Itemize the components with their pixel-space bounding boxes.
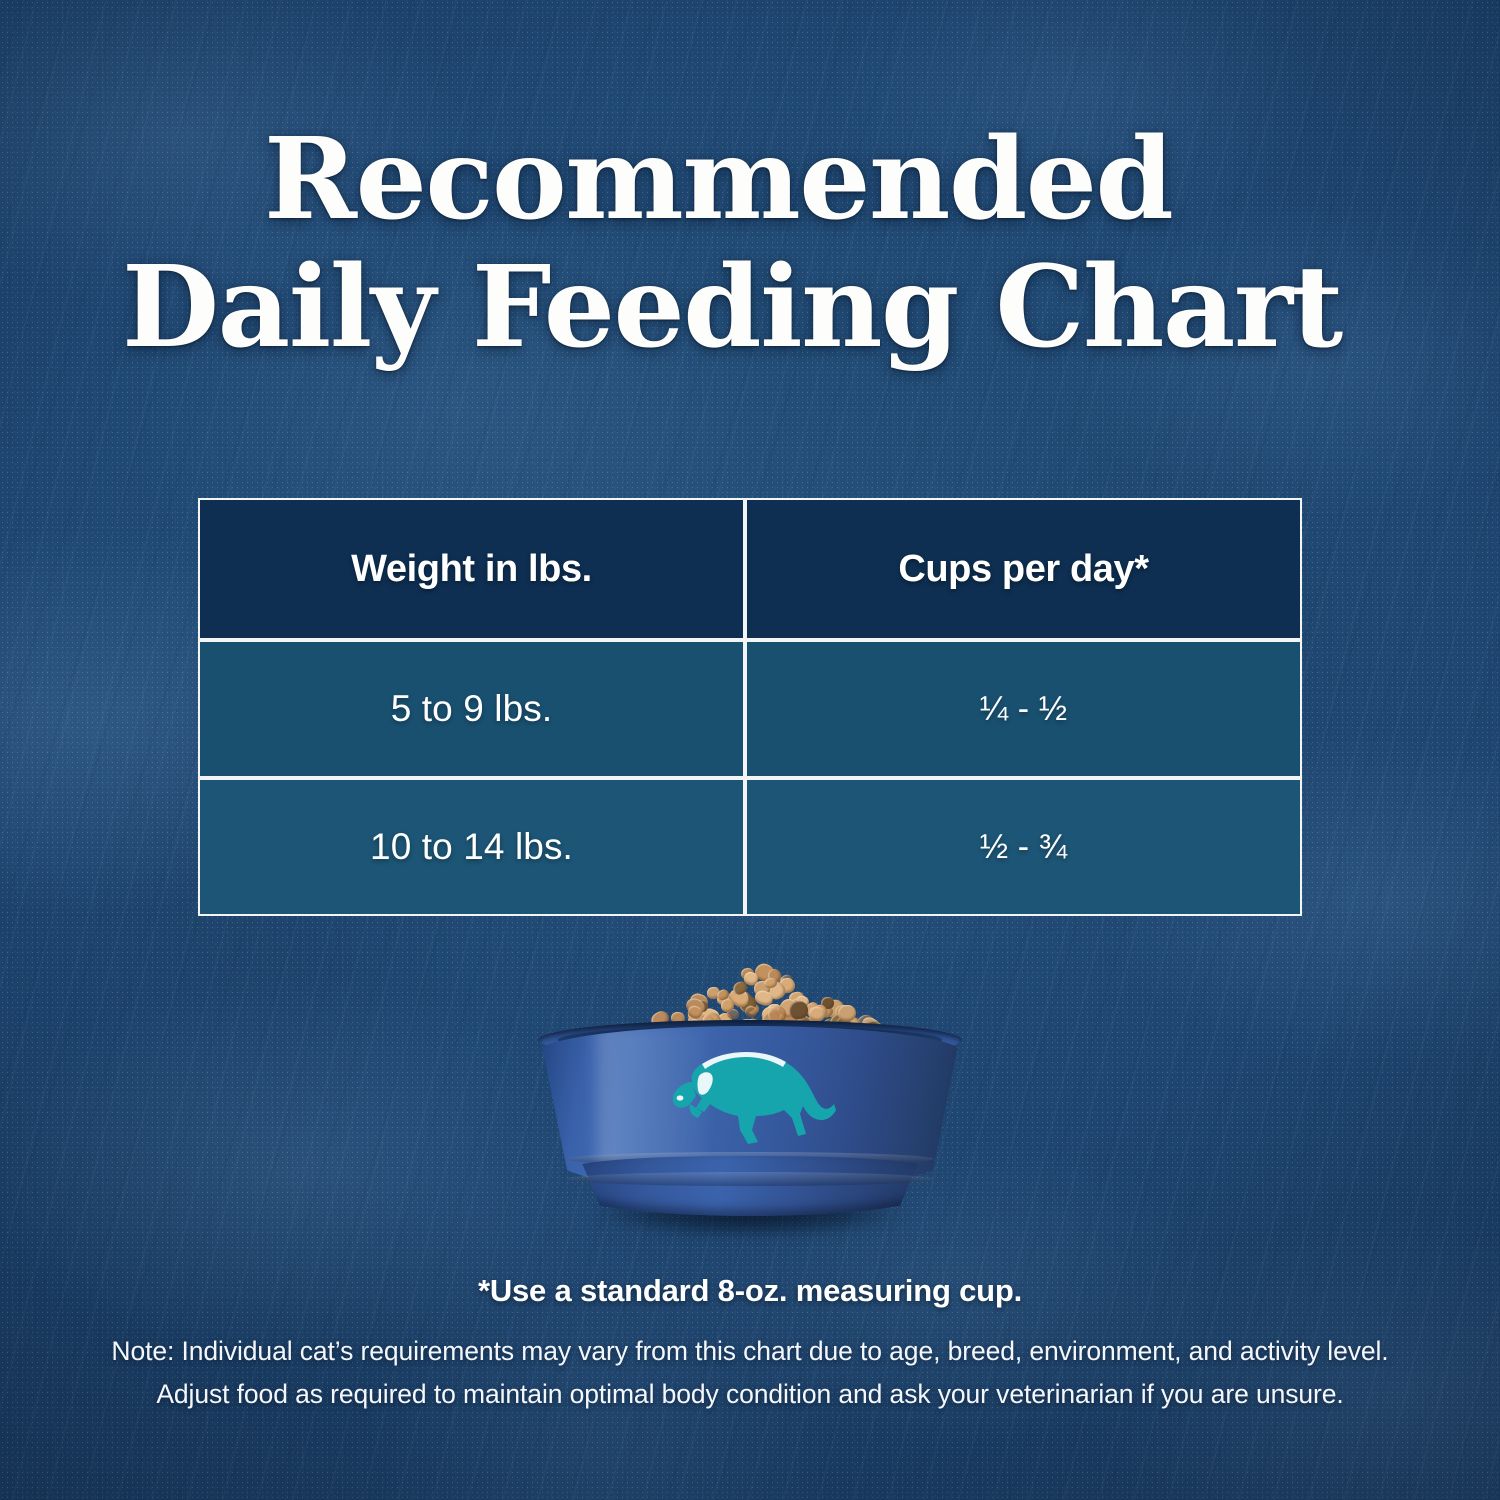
measuring-cup-footnote: *Use a standard 8-oz. measuring cup. xyxy=(0,1273,1500,1309)
bowl-foot-ring-lower xyxy=(566,1172,934,1186)
cell-weight-range-1: 5 to 9 lbs. xyxy=(198,640,745,778)
feeding-chart-table: Weight in lbs. Cups per day* 5 to 9 lbs.… xyxy=(198,498,1302,916)
feeding-chart-page: Recommended Daily Feeding Chart Weight i… xyxy=(0,0,1500,1500)
table-row: 5 to 9 lbs. ¼ - ½ xyxy=(198,640,1302,778)
table-header: Weight in lbs. Cups per day* xyxy=(198,498,1302,640)
column-header-cups: Cups per day* xyxy=(745,498,1302,640)
column-header-weight: Weight in lbs. xyxy=(198,498,745,640)
kibble-piece xyxy=(838,1005,857,1022)
bowl-foot xyxy=(568,1156,932,1216)
table-row: 10 to 14 lbs. ½ - ¾ xyxy=(198,778,1302,916)
page-title-line-2: Daily Feeding Chart xyxy=(112,244,1402,372)
page-title: Recommended Daily Feeding Chart xyxy=(112,116,1402,371)
cell-cups-per-day-1: ¼ - ½ xyxy=(745,640,1302,778)
page-title-line-1: Recommended xyxy=(112,116,1402,244)
table-header-row: Weight in lbs. Cups per day* xyxy=(198,498,1302,640)
disclaimer-note: Note: Individual cat’s requirements may … xyxy=(0,1330,1500,1416)
disclaimer-note-line-2: Adjust food as required to maintain opti… xyxy=(0,1373,1500,1416)
disclaimer-note-line-1: Note: Individual cat’s requirements may … xyxy=(0,1330,1500,1373)
table-body: 5 to 9 lbs. ¼ - ½ 10 to 14 lbs. ½ - ¾ xyxy=(198,640,1302,916)
buffalo-bison-logo xyxy=(666,1038,838,1150)
cell-weight-range-2: 10 to 14 lbs. xyxy=(198,778,745,916)
cell-cups-per-day-2: ½ - ¾ xyxy=(745,778,1302,916)
pet-food-bowl-illustration xyxy=(500,940,1000,1260)
